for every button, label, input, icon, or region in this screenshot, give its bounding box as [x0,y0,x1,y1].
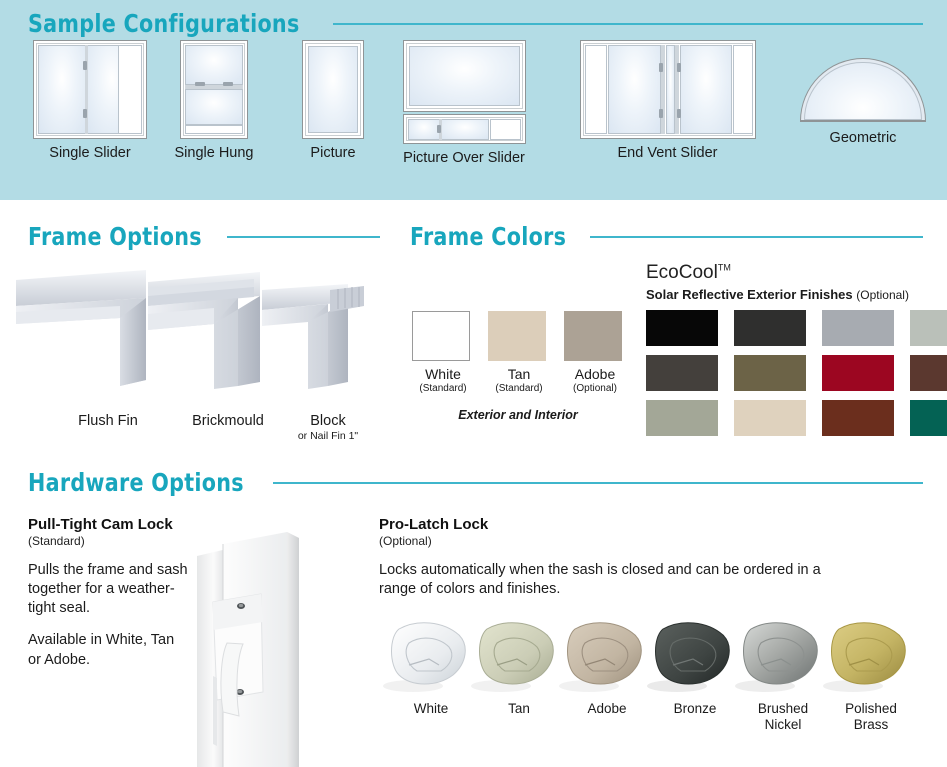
config-label: Single Hung [168,145,260,161]
lock-finish-label: Brushed Nickel [735,701,831,732]
ecocool-swatch[interactable] [822,400,894,436]
cam-lock-svg [183,516,319,767]
sample-configurations-heading: Sample Configurations [28,9,923,38]
frame-option-captions: Flush Fin Brickmould Block or Nail Fin 1… [8,413,388,455]
window-diagram-end-vent-slider [580,40,756,139]
ecocool-brand: EcoCool [646,262,718,283]
ecocool-swatch[interactable] [734,355,806,391]
pro-latch-description: Locks automatically when the sash is clo… [379,561,834,599]
config-item-geometric[interactable]: Geometric [790,58,936,146]
ecocool-swatch[interactable] [822,310,894,346]
section-title: Sample Configurations [28,9,300,38]
sample-configurations-section: Sample Configurations Single Slider [0,0,947,200]
cam-lock-option: (Standard) [28,534,188,548]
section-title: Frame Options [28,222,202,251]
color-swatch [564,311,622,361]
ecocool-swatch[interactable] [910,355,947,391]
window-diagram-single-hung [180,40,248,139]
ecocool-subtitle: Solar Reflective Exterior Finishes (Opti… [646,287,909,302]
frame-option-label: Flush Fin [78,413,138,429]
cam-lock-title: Pull-Tight Cam Lock [28,516,188,533]
color-swatch [412,311,470,361]
ecocool-swatch[interactable] [734,310,806,346]
lock-finish-label: White [383,701,479,717]
frame-color-tan[interactable]: Tan (Standard) [488,311,550,394]
lock-finish-brushed-nickel[interactable]: Brushed Nickel [735,613,831,732]
cam-lock-image [183,516,319,767]
cam-lock-description-1: Pulls the frame and sash together for a … [28,561,188,618]
cam-lock-block: Pull-Tight Cam Lock (Standard) Pulls the… [28,516,188,670]
frame-profiles-illustration [8,262,388,392]
heading-rule [273,482,923,484]
frame-section: Frame Options Frame Colors [0,200,947,458]
window-diagram-picture-over-slider [403,40,526,144]
heading-rule [590,236,923,238]
ecocool-swatch[interactable] [646,355,718,391]
frame-option-block[interactable]: Block or Nail Fin 1" [258,413,398,442]
section-title: Frame Colors [410,222,566,251]
window-diagram-geometric [800,58,926,122]
color-sublabel: (Standard) [412,383,474,394]
frame-option-sublabel: or Nail Fin 1" [258,430,398,442]
ecocool-subtitle-text: Solar Reflective Exterior Finishes [646,287,853,302]
pro-latch-block: Pro-Latch Lock (Optional) Locks automati… [379,516,849,599]
ecocool-title: EcoCoolTM [646,262,731,284]
config-label: End Vent Slider [570,145,765,161]
lock-knob-image [647,613,743,695]
config-item-single-hung[interactable]: Single Hung [168,40,260,161]
pro-latch-title: Pro-Latch Lock [379,516,849,533]
lock-finish-label: Adobe [559,701,655,717]
ecocool-swatch[interactable] [646,400,718,436]
window-diagram-picture [302,40,364,139]
config-item-picture-over-slider[interactable]: Picture Over Slider [398,40,530,166]
lock-knob-image [559,613,655,695]
heading-rule [227,236,380,238]
config-item-single-slider[interactable]: Single Slider [14,40,166,161]
lock-finish-bronze[interactable]: Bronze [647,613,743,717]
lock-finish-white[interactable]: White [383,613,479,717]
config-item-end-vent-slider[interactable]: End Vent Slider [570,40,765,161]
spec-sheet-page: Sample Configurations Single Slider [0,0,947,767]
section-title: Hardware Options [28,468,244,497]
ecocool-swatch[interactable] [734,400,806,436]
exterior-interior-note: Exterior and Interior [412,408,624,422]
configuration-list: Single Slider Single Hung P [0,40,947,190]
heading-rule [333,23,923,25]
color-swatch [488,311,546,361]
ecocool-swatch-grid [646,310,947,436]
window-diagram-single-slider [33,40,147,139]
lock-finish-label: Tan [471,701,567,717]
lock-finish-label: Polished Brass [823,701,919,732]
ecocool-swatch[interactable] [910,400,947,436]
frame-options-heading: Frame Options [28,222,380,251]
config-label: Single Slider [14,145,166,161]
ecocool-swatch[interactable] [822,355,894,391]
cam-lock-description-2: Available in White, Tan or Adobe. [28,631,188,669]
lock-finish-adobe[interactable]: Adobe [559,613,655,717]
config-label: Geometric [790,130,936,146]
frame-colors-heading: Frame Colors [410,222,923,251]
frame-color-adobe[interactable]: Adobe (Optional) [564,311,626,394]
ecocool-swatch[interactable] [646,310,718,346]
lock-knob-image [471,613,567,695]
frame-profiles-svg [8,262,388,392]
frame-option-label: Brickmould [192,413,264,429]
color-label: White [412,366,474,382]
frame-option-label: Block [310,413,345,429]
lock-finish-list: White Tan [383,613,947,767]
config-label: Picture [290,145,376,161]
color-label: Adobe [564,366,626,382]
frame-color-white[interactable]: White (Standard) [412,311,474,394]
pro-latch-option: (Optional) [379,534,849,548]
ecocool-optional-note: (Optional) [856,288,909,302]
config-item-picture[interactable]: Picture [290,40,376,161]
color-label: Tan [488,366,550,382]
lock-knob-image [823,613,919,695]
color-sublabel: (Standard) [488,383,550,394]
lock-finish-tan[interactable]: Tan [471,613,567,717]
trademark-symbol: TM [718,263,731,273]
lock-knob-image [383,613,479,695]
config-label: Picture Over Slider [398,150,530,166]
ecocool-swatch[interactable] [910,310,947,346]
lock-finish-label: Bronze [647,701,743,717]
color-sublabel: (Optional) [564,383,626,394]
hardware-options-heading: Hardware Options [28,468,923,497]
lock-finish-polished-brass[interactable]: Polished Brass [823,613,919,732]
lock-knob-image [735,613,831,695]
